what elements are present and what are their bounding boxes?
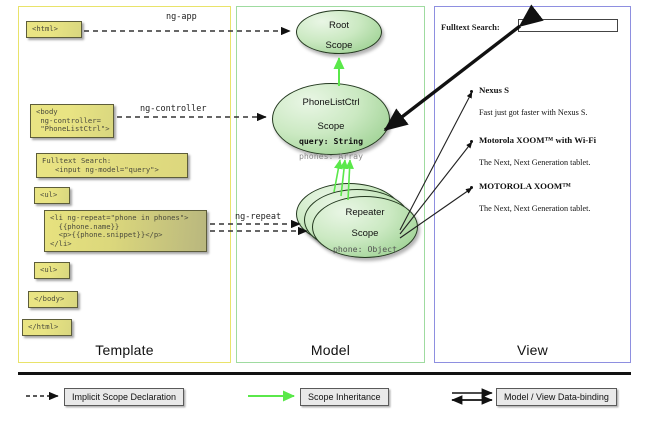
- legend-implicit-scope-declaration: Implicit Scope Declaration: [64, 388, 184, 406]
- code-box-html-close: </html>: [22, 319, 72, 336]
- scope-root-title-2: Scope: [297, 31, 381, 51]
- scope-property-phone: phone: Object: [313, 245, 417, 255]
- panel-model-label: Model: [237, 342, 424, 358]
- scope-phonelistctrl-title-2: Scope: [273, 108, 389, 132]
- legend-divider: [18, 372, 631, 375]
- panel-template: Template: [18, 6, 231, 363]
- panel-template-label: Template: [19, 342, 230, 358]
- view-search-input[interactable]: [518, 19, 618, 32]
- view-item-snippet: Fast just got faster with Nexus S.: [479, 108, 587, 117]
- scope-root-title-1: Root: [297, 11, 381, 31]
- legend-scope-inheritance: Scope Inheritance: [300, 388, 389, 406]
- code-box-search-input: Fulltext Search: <input ng-model="query"…: [36, 153, 188, 178]
- code-box-li-ng-repeat: <li ng-repeat="phone in phones"> {{phone…: [44, 210, 207, 252]
- view-item-snippet: The Next, Next Generation tablet.: [479, 158, 590, 167]
- scope-repeater: Repeater Scope phone: Object: [312, 196, 418, 258]
- scope-repeater-title-2: Scope: [313, 218, 417, 239]
- scope-phonelistctrl: PhoneListCtrl Scope query: String phones…: [272, 83, 390, 155]
- code-box-html-open: <html>: [26, 21, 82, 38]
- scope-repeater-title-1: Repeater: [313, 197, 417, 218]
- view-search-label: Fulltext Search:: [441, 22, 500, 32]
- view-item-name: MOTOROLA XOOM™: [479, 181, 571, 191]
- view-list-bullet: [470, 186, 473, 189]
- code-box-ul-open: <ul>: [34, 187, 70, 204]
- scope-property-phones: phones: Array: [273, 152, 389, 162]
- view-item-snippet: The Next, Next Generation tablet.: [479, 204, 590, 213]
- scope-root: Root Scope: [296, 10, 382, 54]
- legend-model-view-data-binding: Model / View Data-binding: [496, 388, 617, 406]
- scope-property-query: query: String: [273, 137, 389, 147]
- connector-label-ng-repeat: ng-repeat: [235, 212, 281, 222]
- code-box-body-close: </body>: [28, 291, 78, 308]
- connector-label-ng-app: ng-app: [166, 12, 197, 22]
- code-box-body-open: <body ng-controller= "PhoneListCtrl">: [30, 104, 114, 138]
- view-item-name: Motorola XOOM™ with Wi-Fi: [479, 135, 596, 145]
- scope-phonelistctrl-title-1: PhoneListCtrl: [273, 84, 389, 108]
- view-list-bullet: [470, 140, 473, 143]
- code-box-ul-close: <ul>: [34, 262, 70, 279]
- connector-label-ng-controller: ng-controller: [140, 104, 207, 114]
- view-item-name: Nexus S: [479, 85, 509, 95]
- panel-view-label: View: [435, 342, 630, 358]
- view-list-bullet: [470, 90, 473, 93]
